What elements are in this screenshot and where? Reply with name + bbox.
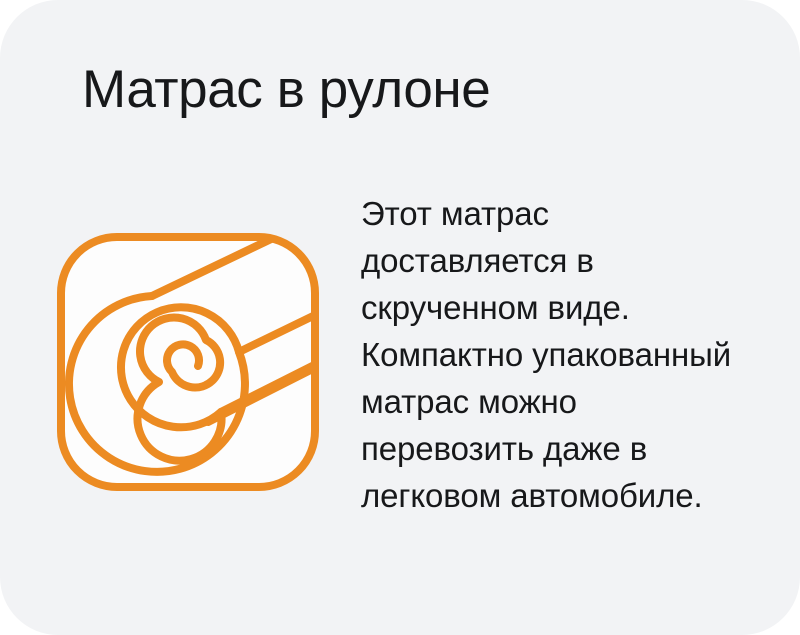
description-text: Этот матрас доставляется в скрученном ви… (361, 190, 733, 519)
content-row: Этот матрас доставляется в скрученном ви… (0, 190, 800, 590)
rolled-mattress-icon (56, 232, 320, 492)
info-card: Матрас в рулоне (0, 0, 800, 635)
rolled-mattress-icon-svg (56, 232, 320, 492)
page-title: Матрас в рулоне (82, 60, 490, 119)
